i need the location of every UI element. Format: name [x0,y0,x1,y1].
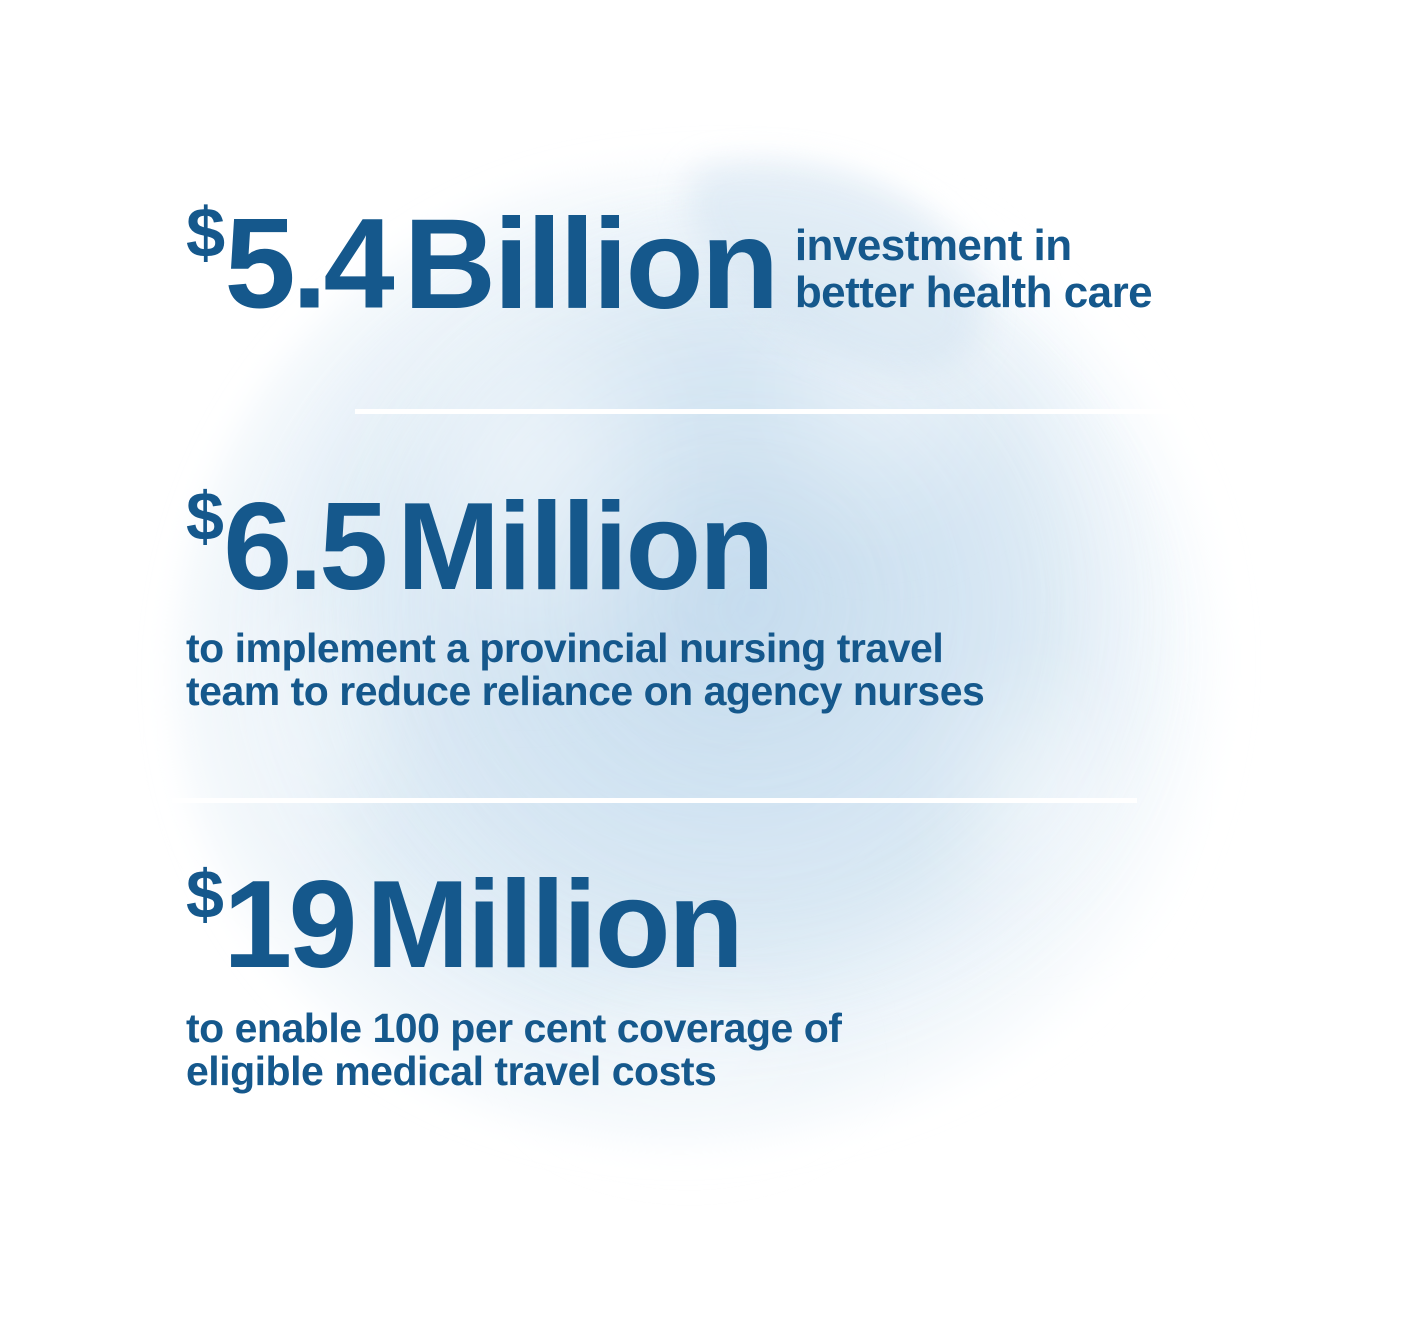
stat-1-caption-line-1: investment in [795,222,1152,269]
stat-2-caption: to implement a provincial nursing travel… [186,627,1306,715]
stat-3-caption: to enable 100 per cent coverage of eligi… [186,1007,1306,1095]
infographic-canvas: $5.4Billion investment in better health … [0,0,1421,1344]
stat-1-caption-line-2: better health care [795,269,1152,316]
stat-2-headline: $6.5Million [186,484,1306,609]
stat-3-amount: 19 [223,856,354,994]
stat-2-caption-line-2: team to reduce reliance on agency nurses [186,670,1306,714]
stat-3-caption-line-2: eligible medical travel costs [186,1050,1306,1094]
infographic-content: $5.4Billion investment in better health … [0,0,1421,1344]
stat-block-1: $5.4Billion investment in better health … [186,198,1306,327]
divider-2 [172,798,1137,803]
stat-1-caption: investment in better health care [795,222,1152,327]
stat-2-caption-line-1: to implement a provincial nursing travel [186,627,1306,671]
stat-2-amount: 6.5 [223,478,384,616]
stat-block-3: $19Million to enable 100 per cent covera… [186,862,1306,1094]
stat-1-headline: $5.4Billion [186,198,777,327]
stat-1-row: $5.4Billion investment in better health … [186,198,1306,327]
stat-3-caption-line-1: to enable 100 per cent coverage of [186,1007,1306,1051]
stat-1-unit: Billion [404,193,777,336]
stat-3-headline: $19Million [186,862,1306,987]
stat-1-amount: 5.4 [224,193,390,336]
stat-3-unit: Million [366,856,741,994]
stat-3-currency-symbol: $ [186,857,223,933]
stat-1-currency-symbol: $ [186,193,224,272]
stat-block-2: $6.5Million to implement a provincial nu… [186,484,1306,714]
stat-2-unit: Million [397,478,772,616]
divider-1 [355,409,1215,414]
stat-2-currency-symbol: $ [186,479,223,555]
